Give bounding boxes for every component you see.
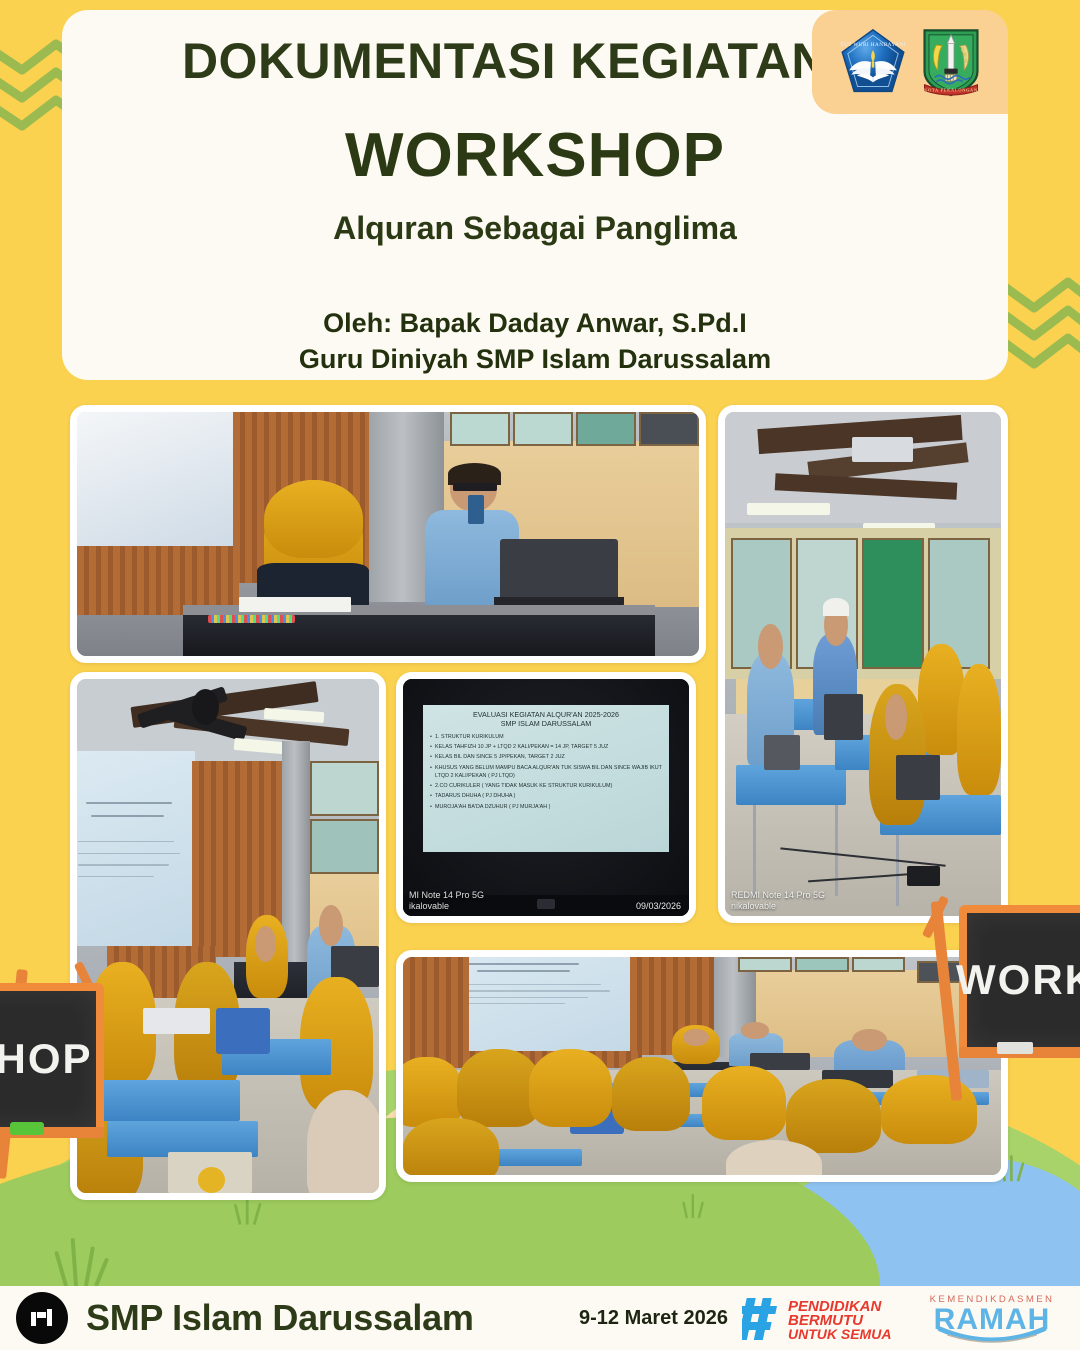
photo-content: EVALUASI KEGIATAN ALQUR'AN 2025-2026 SMP… <box>403 679 689 916</box>
watermark-user: nikalovable <box>731 901 825 912</box>
slide-bullet: 1. STRUKTUR KURIKULUM <box>430 733 662 741</box>
school-name: SMP Islam Darussalam <box>86 1297 474 1339</box>
chalkboard-right-text: WORK <box>956 956 1080 1004</box>
slide-bullet: 2.CO CURIKULER ( YANG TIDAK MASUK KE STR… <box>430 782 662 790</box>
footer-right-group: 9-12 Maret 2026 PENDIDIKAN BERMUTU UNTUK… <box>579 1291 1080 1345</box>
poster-canvas: TUT WURI HANDAYANI <box>0 0 1080 1350</box>
pendidikan-bermutu-badge: PENDIDIKAN BERMUTU UNTUK SEMUA <box>742 1292 908 1344</box>
watermark-date: 09/03/2026 <box>636 901 681 911</box>
slide-bullet: KHUSUS YANG BELUM MAMPU BACA ALQUR'AN TU… <box>430 764 662 780</box>
photo-classroom-side-view: REDMI Note 14 Pro 5G nikalovable <box>718 405 1008 923</box>
slide-bullet: TADARUS DHUHA ( PJ DHUHA ) <box>430 792 662 800</box>
logo-tab: TUT WURI HANDAYANI <box>812 10 1008 114</box>
photo-audience-back-view <box>70 672 386 1200</box>
svg-text:UNTUK SEMUA: UNTUK SEMUA <box>788 1326 891 1342</box>
photo-watermark: MI Note 14 Pro 5G ikalovable <box>409 890 484 913</box>
header-card: TUT WURI HANDAYANI <box>62 10 1008 380</box>
photo-content <box>77 412 699 656</box>
photo-content <box>725 412 1001 916</box>
chalkboard-left-text: SHOP <box>0 1035 93 1083</box>
watermark-device: REDMI Note 14 Pro 5G <box>731 890 825 901</box>
photo-watermark: REDMI Note 14 Pro 5G nikalovable <box>731 890 825 913</box>
grass-tuft <box>60 1236 104 1286</box>
svg-text:TUT WURI HANDAYANI: TUT WURI HANDAYANI <box>840 42 905 48</box>
slide-title-line1: EVALUASI KEGIATAN ALQUR'AN 2025-2026 <box>473 710 619 719</box>
school-mark-icon <box>27 1303 57 1333</box>
event-subtitle: Alquran Sebagai Panglima <box>62 210 1008 247</box>
photo-projector-slide: EVALUASI KEGIATAN ALQUR'AN 2025-2026 SMP… <box>396 672 696 923</box>
slide-bullet: KELAS BIL DAN SINCE 5 JP/PEKAN, TARGET 2… <box>430 753 662 761</box>
watermark-user: ikalovable <box>409 901 484 912</box>
footer-bar: SMP Islam Darussalam 9-12 Maret 2026 PEN… <box>0 1286 1080 1350</box>
slide-bullet: KELAS TAHFIZH 10 JP + LTQD 2 KALI/PEKAN … <box>430 743 662 751</box>
tut-wuri-handayani-logo: TUT WURI HANDAYANI <box>838 27 908 97</box>
event-date-range: 9-12 Maret 2026 <box>579 1307 728 1330</box>
slide-title-line2: SMP ISLAM DARUSSALAM <box>501 719 592 728</box>
photo-content <box>403 957 1001 1175</box>
school-logo <box>16 1292 68 1344</box>
photo-content <box>77 679 379 1193</box>
projector-slide-content: EVALUASI KEGIATAN ALQUR'AN 2025-2026 SMP… <box>423 705 669 852</box>
event-type-title: WORKSHOP <box>62 120 1008 191</box>
watermark-device: MI Note 14 Pro 5G <box>409 890 484 901</box>
kemendikdasmen-ramah-badge: KEMENDIKDASMEN RAMAH <box>922 1291 1062 1345</box>
grass-tuft <box>681 1188 707 1218</box>
photo-full-room-wide <box>396 950 1008 1182</box>
slide-bullet-list: 1. STRUKTUR KURIKULUM KELAS TAHFIZH 10 J… <box>430 733 662 811</box>
slide-bullet: MUROJA'AH BA'DA DZUHUR ( PJ MURJA'AH ) <box>430 803 662 811</box>
photo-speaker-panel <box>70 405 706 663</box>
kota-pekalongan-coat-of-arms: KOTA PEKALONGAN <box>920 26 982 98</box>
speaker-role: Guru Diniyah SMP Islam Darussalam <box>62 342 1008 378</box>
speaker-byline: Oleh: Bapak Daday Anwar, S.Pd.I Guru Din… <box>62 306 1008 377</box>
svg-text:KOTA PEKALONGAN: KOTA PEKALONGAN <box>924 87 978 92</box>
speaker-name: Oleh: Bapak Daday Anwar, S.Pd.I <box>62 306 1008 342</box>
